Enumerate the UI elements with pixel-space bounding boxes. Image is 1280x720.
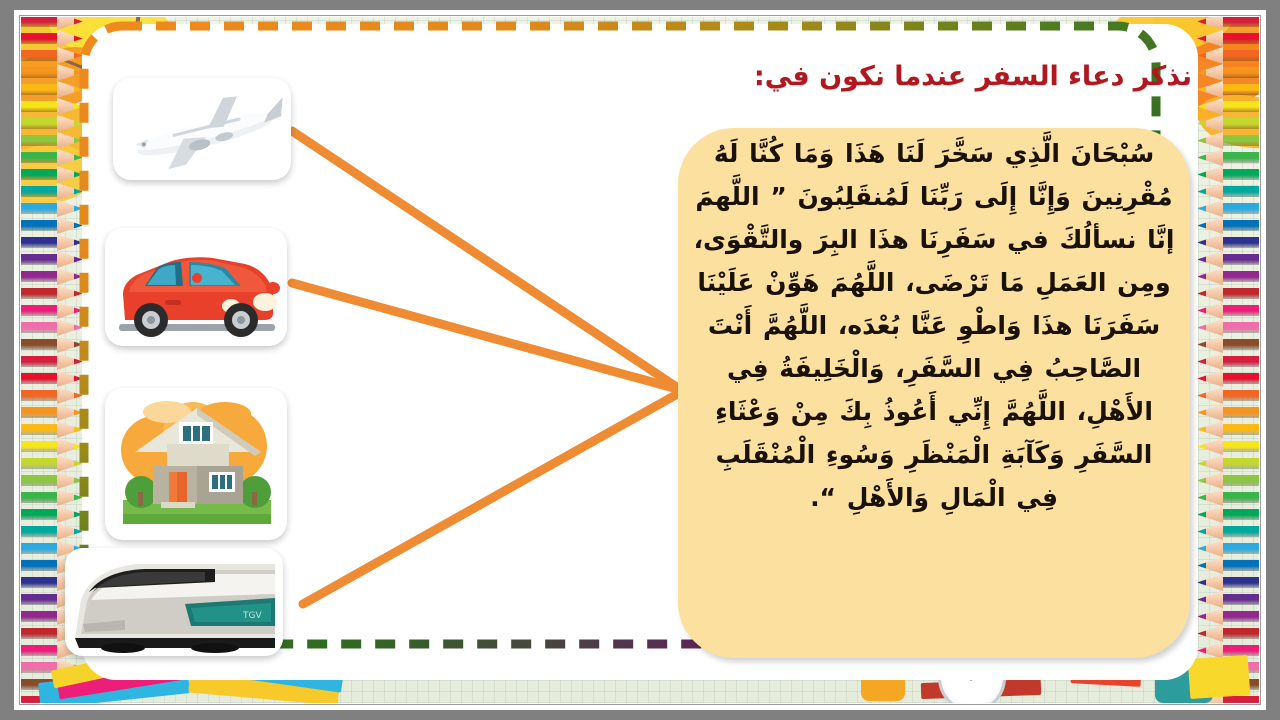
car-icon bbox=[105, 228, 287, 346]
colored-pencil-icon bbox=[21, 81, 83, 98]
colored-pencil-icon bbox=[21, 200, 83, 217]
colored-pencil-icon bbox=[1197, 353, 1259, 370]
sticky-note-icon bbox=[1188, 655, 1251, 699]
colored-pencil-icon bbox=[21, 421, 83, 438]
colored-pencil-icon bbox=[21, 47, 83, 64]
colored-pencil-icon bbox=[1197, 319, 1259, 336]
colored-pencil-icon bbox=[1197, 98, 1259, 115]
colored-pencil-icon bbox=[21, 268, 83, 285]
colored-pencil-icon bbox=[1197, 336, 1259, 353]
colored-pencil-icon bbox=[21, 234, 83, 251]
colored-pencil-icon bbox=[1197, 115, 1259, 132]
picture-card-car[interactable] bbox=[105, 228, 287, 346]
train-icon: TGV bbox=[65, 548, 283, 656]
colored-pencil-icon bbox=[21, 285, 83, 302]
colored-pencil-icon bbox=[1197, 64, 1259, 81]
colored-pencil-icon bbox=[1197, 523, 1259, 540]
colored-pencil-icon bbox=[1197, 557, 1259, 574]
colored-pencil-icon bbox=[1197, 574, 1259, 591]
colored-pencil-icon bbox=[21, 523, 83, 540]
dua-box: سُبْحَانَ الَّذِي سَخَّرَ لَنَا هَذَا وَ… bbox=[678, 128, 1190, 658]
colored-pencil-icon bbox=[21, 455, 83, 472]
colored-pencil-icon bbox=[1197, 268, 1259, 285]
dua-text: سُبْحَانَ الَّذِي سَخَّرَ لَنَا هَذَا وَ… bbox=[692, 132, 1176, 519]
colored-pencil-icon bbox=[1197, 370, 1259, 387]
colored-pencil-icon bbox=[21, 98, 83, 115]
colored-pencil-icon bbox=[1197, 625, 1259, 642]
colored-pencil-icon bbox=[1197, 217, 1259, 234]
colored-pencil-icon bbox=[1197, 387, 1259, 404]
colored-pencil-icon bbox=[1197, 285, 1259, 302]
colored-pencil-icon bbox=[1197, 30, 1259, 47]
colored-pencil-icon bbox=[21, 506, 83, 523]
colored-pencil-icon bbox=[1197, 47, 1259, 64]
colored-pencil-icon bbox=[1197, 149, 1259, 166]
colored-pencil-icon bbox=[1197, 234, 1259, 251]
pencil-strip-right bbox=[1197, 17, 1259, 703]
colored-pencil-icon bbox=[1197, 591, 1259, 608]
colored-pencil-icon bbox=[1197, 251, 1259, 268]
colored-pencil-icon bbox=[21, 166, 83, 183]
svg-text:TGV: TGV bbox=[242, 611, 262, 621]
colored-pencil-icon bbox=[1197, 302, 1259, 319]
picture-card-train[interactable]: TGV bbox=[65, 548, 283, 656]
page-title: نذكر دعاء السفر عندما نكون في: bbox=[754, 62, 1192, 92]
colored-pencil-icon bbox=[1197, 540, 1259, 557]
colored-pencil-icon bbox=[21, 302, 83, 319]
colored-pencil-icon bbox=[21, 353, 83, 370]
colored-pencil-icon bbox=[1197, 472, 1259, 489]
colored-pencil-icon bbox=[1197, 166, 1259, 183]
colored-pencil-icon bbox=[21, 438, 83, 455]
colored-pencil-icon bbox=[1197, 183, 1259, 200]
colored-pencil-icon bbox=[21, 149, 83, 166]
colored-pencil-icon bbox=[21, 115, 83, 132]
colored-pencil-icon bbox=[1197, 17, 1259, 30]
colored-pencil-icon bbox=[21, 217, 83, 234]
colored-pencil-icon bbox=[21, 183, 83, 200]
airplane-icon bbox=[113, 78, 291, 180]
colored-pencil-icon bbox=[21, 64, 83, 81]
colored-pencil-icon bbox=[21, 132, 83, 149]
colored-pencil-icon bbox=[1197, 489, 1259, 506]
colored-pencil-icon bbox=[21, 17, 83, 30]
colored-pencil-icon bbox=[1197, 608, 1259, 625]
colored-pencil-icon bbox=[1197, 81, 1259, 98]
colored-pencil-icon bbox=[21, 336, 83, 353]
colored-pencil-icon bbox=[21, 319, 83, 336]
colored-pencil-icon bbox=[21, 404, 83, 421]
colored-pencil-icon bbox=[1197, 455, 1259, 472]
slide-root: TGV نذكر دعاء السفر عندما نكون في: سُبْح… bbox=[0, 0, 1280, 720]
colored-pencil-icon bbox=[1197, 421, 1259, 438]
colored-pencil-icon bbox=[21, 251, 83, 268]
picture-card-airplane[interactable] bbox=[113, 78, 291, 180]
colored-pencil-icon bbox=[21, 387, 83, 404]
colored-pencil-icon bbox=[1197, 438, 1259, 455]
colored-pencil-icon bbox=[1197, 506, 1259, 523]
colored-pencil-icon bbox=[21, 370, 83, 387]
colored-pencil-icon bbox=[1197, 132, 1259, 149]
colored-pencil-icon bbox=[21, 472, 83, 489]
colored-pencil-icon bbox=[1197, 404, 1259, 421]
house-icon bbox=[105, 388, 287, 540]
colored-pencil-icon bbox=[21, 489, 83, 506]
picture-card-house[interactable] bbox=[105, 388, 287, 540]
colored-pencil-icon bbox=[1197, 200, 1259, 217]
colored-pencil-icon bbox=[21, 30, 83, 47]
